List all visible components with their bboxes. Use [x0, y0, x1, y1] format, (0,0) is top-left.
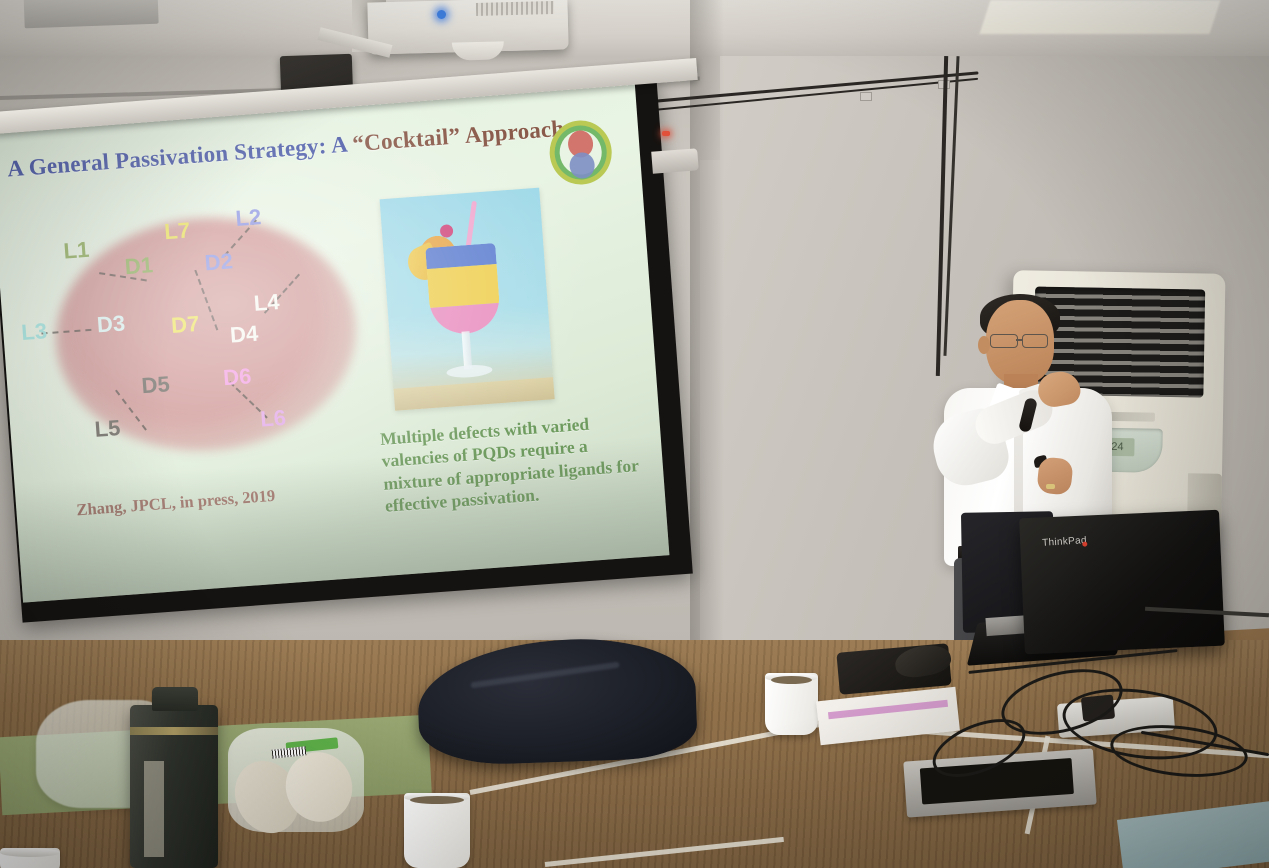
defect-label-d7: D7: [170, 311, 200, 339]
projector-vent: [476, 1, 554, 16]
paper-cup: [0, 848, 60, 868]
cocktail-glass-stem: [461, 331, 472, 369]
cocktail-cherry: [440, 224, 454, 238]
presenter-eyeglasses-right-lens: [1022, 334, 1048, 348]
presenter-ring: [1046, 484, 1055, 489]
ligand-label-l6: L6: [259, 405, 287, 433]
ligand-label-l2: L2: [235, 204, 263, 232]
presentation-room-scene: A General Passivation Strategy: A “Cockt…: [0, 0, 1269, 868]
paper-cup: [404, 793, 470, 868]
defect-label-d2: D2: [204, 248, 234, 276]
tea-thermos: [130, 705, 218, 868]
defect-label-d1: D1: [124, 252, 154, 280]
cocktail-glass-foot: [446, 364, 493, 379]
slide-citation: Zhang, JPCL, in press, 2019: [76, 486, 276, 521]
cocktail-photo: [380, 188, 555, 411]
presenter-ear: [978, 336, 990, 354]
ligand-label-l3: L3: [20, 318, 48, 346]
paper-cup-contents: [771, 676, 812, 684]
thinkpad-logo-text: ThinkPad: [1042, 535, 1087, 549]
thermos-gold-band: [130, 727, 218, 735]
ligand-label-l5: L5: [94, 415, 122, 443]
defect-label-d5: D5: [141, 371, 171, 399]
slide-title-main: A General Passivation Strategy: A: [6, 131, 353, 181]
ceiling-light: [979, 0, 1220, 34]
screen-status-led-icon: [662, 131, 670, 136]
defect-label-d4: D4: [229, 321, 259, 349]
cocktail-layer-yellow: [427, 264, 500, 308]
defect-label-d6: D6: [222, 363, 252, 391]
ligand-label-l7: L7: [163, 217, 191, 245]
cable-clip: [860, 92, 872, 101]
paper-cup: [765, 673, 818, 735]
slide-body-text: Multiple defects with varied valencies o…: [379, 409, 647, 518]
paper-cup-rim: [0, 848, 60, 857]
ligand-label-l1: L1: [63, 237, 91, 265]
presenter-eyeglasses-left-lens: [990, 334, 1018, 348]
thinkpad-logo-icon: ThinkPad: [1042, 536, 1087, 552]
thermos-label: [144, 761, 164, 857]
slide-content: A General Passivation Strategy: A “Cockt…: [0, 84, 669, 602]
ligand-label-l4: L4: [253, 289, 281, 317]
projection-screen-surface: A General Passivation Strategy: A “Cockt…: [0, 84, 669, 602]
presenter-eyeglasses-bridge: [1016, 339, 1023, 341]
cocktail-beach-sand: [393, 377, 554, 411]
screen-housing-end-cap: [651, 148, 699, 173]
slide-title-accent: “Cocktail” Approach: [352, 116, 566, 156]
projection-screen: A General Passivation Strategy: A “Cockt…: [0, 75, 693, 623]
paper-cup-contents: [410, 796, 464, 804]
defect-label-d3: D3: [96, 310, 126, 338]
thinkpad-laptop[interactable]: ThinkPad: [1019, 510, 1225, 655]
cocktail-glass-bowl: [425, 243, 501, 336]
institution-logo-icon: [547, 118, 614, 186]
cable-grommet-lid[interactable]: [23, 0, 158, 28]
thermos-cap: [152, 687, 198, 711]
projector-power-led-icon: [437, 10, 446, 19]
